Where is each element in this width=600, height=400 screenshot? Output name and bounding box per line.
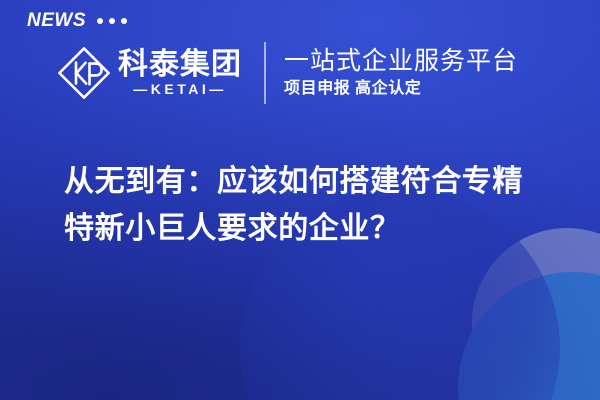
headline: 从无到有：应该如何搭建符合专精 特新小巨人要求的企业？ <box>64 158 574 252</box>
ketai-diamond-monogram-icon <box>56 45 112 101</box>
tagline-secondary: 项目申报 高企认定 <box>284 79 518 98</box>
news-dot-icon <box>121 18 127 24</box>
tagline-block: 一站式企业服务平台 项目申报 高企认定 <box>284 47 518 98</box>
tagline-primary: 一站式企业服务平台 <box>284 47 518 75</box>
news-dot-icon <box>109 18 115 24</box>
brand-name-en: —KETAI— <box>133 82 226 97</box>
news-eyebrow: NEWS <box>27 11 127 30</box>
news-dots-icon <box>97 18 127 24</box>
headline-line: 特新小巨人要求的企业？ <box>64 205 574 252</box>
news-banner: NEWS 科泰集团 —KET <box>0 0 600 400</box>
brand-name-block: 科泰集团 —KETAI— <box>118 49 242 97</box>
brand-lockup: 科泰集团 —KETAI— 一站式企业服务平台 项目申报 高企认定 <box>56 42 518 104</box>
lockup-divider <box>264 42 266 104</box>
headline-line: 从无到有：应该如何搭建符合专精 <box>64 158 574 205</box>
news-label: NEWS <box>27 11 86 30</box>
brand-name-cn: 科泰集团 <box>118 49 242 81</box>
news-dot-icon <box>97 18 103 24</box>
